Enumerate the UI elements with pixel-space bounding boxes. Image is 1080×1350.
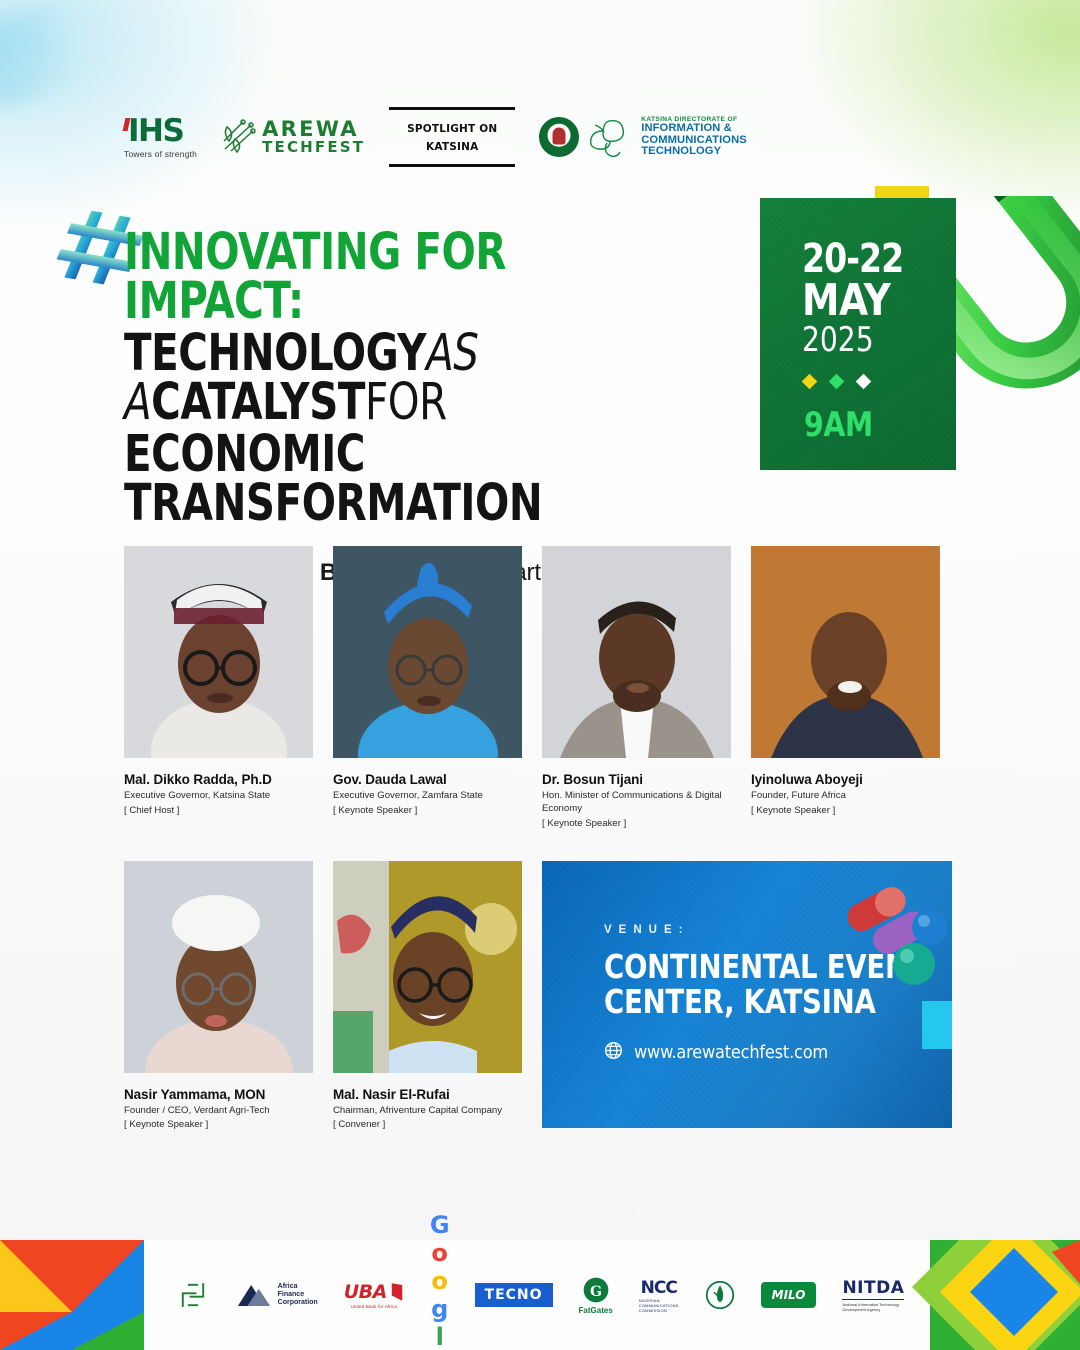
fatgates-wordmark: FatGates <box>579 1306 613 1315</box>
capsules-3d-icon <box>848 869 952 999</box>
sponsor-katsina-state <box>705 1269 735 1321</box>
speaker-photo-bosun-tijani <box>542 546 731 758</box>
katsina-ict-logo: KATSINA DIRECTORATE OF INFORMATION & COM… <box>539 117 747 158</box>
speaker-card: Dr. Bosun Tijani Hon. Minister of Commun… <box>542 546 731 829</box>
svg-text:G: G <box>590 1283 602 1299</box>
triangles-pattern <box>0 1240 178 1350</box>
sponsor-arewa-techfest <box>176 1269 210 1321</box>
speaker-tag: [ Keynote Speaker ] <box>751 805 940 816</box>
katsina-seal-icon <box>705 1280 735 1310</box>
nitda-tagline: National Information Technology Developm… <box>842 1302 904 1312</box>
speaker-tag: [ Keynote Speaker ] <box>124 1119 313 1130</box>
sponsor-uba: UBA United Bank for Africa <box>344 1269 404 1321</box>
speaker-role: Founder / CEO, Verdant Agri-Tech <box>124 1105 313 1118</box>
uba-wordmark: UBA <box>344 1281 387 1303</box>
headline-block: INNOVATING FOR IMPACT: TECHNOLOGYAS ACAT… <box>124 228 724 587</box>
cyan-accent-block <box>922 1001 952 1049</box>
headline-for: FOR <box>365 373 447 432</box>
tecno-wordmark: TECNO <box>475 1283 553 1307</box>
ihs-logo-text: IHS <box>124 116 183 147</box>
diamonds-pattern <box>902 1240 1080 1350</box>
diamond-icon-2 <box>829 374 845 390</box>
speaker-photo-nasir-el-rufai <box>333 861 522 1073</box>
arewa-logo-line1: AREWA <box>262 120 365 140</box>
katsina-state-seal-icon <box>539 117 579 157</box>
diamond-icon-3 <box>856 374 872 390</box>
speaker-card: Nasir Yammama, MON Founder / CEO, Verdan… <box>124 861 313 1131</box>
venue-website-url: www.arewatechfest.com <box>634 1042 828 1063</box>
ncc-tagline: NIGERIAN COMMUNICATIONS COMMISSION <box>639 1298 679 1313</box>
ihs-tagline: Towers of strength <box>124 150 197 159</box>
afc-wordmark: Africa Finance Corporation <box>278 1283 318 1306</box>
ict-flower-icon <box>587 117 633 157</box>
sponsor-milo: MILO <box>761 1269 817 1321</box>
ict-label-line3: TECHNOLOGY <box>641 146 747 157</box>
diamond-accents <box>804 376 869 387</box>
event-poster: IHS Towers of strength AREWA TECHFEST <box>0 0 1080 1350</box>
speakers-row-2: Nasir Yammama, MON Founder / CEO, Verdan… <box>124 861 960 1131</box>
date-text-block: 20-22 MAY 2025 <box>802 240 912 359</box>
ncc-wordmark: NCC <box>641 1278 677 1298</box>
speaker-role: Executive Governor, Katsina State <box>124 790 313 803</box>
spotlight-badge: SPOTLIGHT ON KATSINA <box>389 107 515 167</box>
event-time: 9AM <box>804 405 873 445</box>
arewa-circuit-icon <box>221 119 257 155</box>
milo-wordmark: MILO <box>761 1282 817 1308</box>
spotlight-badge-label: SPOTLIGHT ON KATSINA <box>407 123 497 153</box>
speaker-tag: [ Chief Host ] <box>124 805 313 816</box>
fatgates-mark-icon: G <box>582 1276 610 1304</box>
speakers-section: Mal. Dikko Radda, Ph.D Executive Governo… <box>124 546 960 1130</box>
speaker-role: Executive Governor, Zamfara State <box>333 790 522 803</box>
speaker-card: Iyinoluwa Aboyeji Founder, Future Africa… <box>751 546 940 829</box>
partner-logo-bar: IHS Towers of strength AREWA TECHFEST <box>124 108 747 166</box>
sponsor-fatgates: G FatGates <box>579 1269 613 1321</box>
ict-label-line1: INFORMATION & <box>641 123 747 134</box>
speaker-photo-nasir-yammama <box>124 861 313 1073</box>
arewa-techfest-logo: AREWA TECHFEST <box>221 119 365 155</box>
arewa-logo-line2: TECHFEST <box>262 140 365 154</box>
speaker-role: Chairman, Afriventure Capital Company <box>333 1105 522 1118</box>
ihs-logo: IHS Towers of strength <box>124 116 197 159</box>
speaker-name: Iyinoluwa Aboyeji <box>751 772 940 787</box>
uba-flag-icon <box>390 1283 404 1301</box>
speaker-tag: [ Keynote Speaker ] <box>542 818 731 829</box>
ict-wordmark: KATSINA DIRECTORATE OF INFORMATION & COM… <box>641 117 747 158</box>
speaker-name: Gov. Dauda Lawal <box>333 772 522 787</box>
speaker-card: Mal. Dikko Radda, Ph.D Executive Governo… <box>124 546 313 829</box>
event-year: 2025 <box>802 323 903 359</box>
headline-line-3: ECONOMIC TRANSFORMATION <box>124 430 652 529</box>
speaker-card: Gov. Dauda Lawal Executive Governor, Zam… <box>333 546 522 829</box>
afc-line2: Finance <box>278 1291 304 1298</box>
globe-icon <box>604 1041 623 1065</box>
sponsor-africa-finance-corporation: Africa Finance Corporation <box>236 1269 318 1321</box>
sponsor-tecno: TECNO <box>475 1269 553 1321</box>
speaker-photo-dauda-lawal <box>333 546 522 758</box>
speaker-name: Nasir Yammama, MON <box>124 1087 313 1102</box>
date-card: 20-22 MAY 2025 9AM <box>760 198 956 470</box>
event-days: 20-22 <box>802 240 903 279</box>
speaker-photo-iyinoluwa-aboyeji <box>751 546 940 758</box>
uba-tagline: United Bank for Africa <box>350 1304 397 1309</box>
event-month: MAY <box>802 279 907 323</box>
venue-website-link[interactable]: www.arewatechfest.com <box>604 1041 828 1065</box>
headline-line-1: INNOVATING FOR IMPACT: <box>124 228 652 327</box>
arewa-mark-icon <box>176 1278 210 1312</box>
speaker-tag: [ Convener ] <box>333 1119 522 1130</box>
sponsor-google: Google <box>430 1269 449 1321</box>
sponsor-logo-row: Africa Finance Corporation UBA United Ba… <box>178 1240 902 1350</box>
speaker-role: Founder, Future Africa <box>751 790 940 803</box>
speakers-row-1: Mal. Dikko Radda, Ph.D Executive Governo… <box>124 546 960 829</box>
arewa-wordmark: AREWA TECHFEST <box>262 120 365 154</box>
afc-line1: Africa <box>278 1283 298 1290</box>
speaker-photo-dikko-radda <box>124 546 313 758</box>
sponsor-ncc: NCC NIGERIAN COMMUNICATIONS COMMISSION <box>639 1269 679 1321</box>
sponsor-nitda: NITDA National Information Technology De… <box>842 1269 904 1321</box>
speaker-name: Mal. Dikko Radda, Ph.D <box>124 772 313 787</box>
afc-line3: Corporation <box>278 1299 318 1306</box>
speaker-tag: [ Keynote Speaker ] <box>333 805 522 816</box>
speaker-role: Hon. Minister of Communications & Digita… <box>542 790 731 816</box>
diamond-icon-1 <box>802 374 818 390</box>
venue-label: VENUE: <box>604 924 689 936</box>
nitda-wordmark: NITDA <box>842 1278 904 1300</box>
afc-mark-icon <box>236 1283 274 1308</box>
speaker-name: Mal. Nasir El-Rufai <box>333 1087 522 1102</box>
venue-card: VENUE: CONTINENTAL EVENT CENTER, KATSINA… <box>542 861 952 1128</box>
headline-line-2: TECHNOLOGYAS ACATALYSTFOR <box>124 329 652 428</box>
speaker-name: Dr. Bosun Tijani <box>542 772 731 787</box>
speaker-card: Mal. Nasir El-Rufai Chairman, Afriventur… <box>333 861 522 1131</box>
headline-catalyst: CATALYST <box>151 373 365 432</box>
